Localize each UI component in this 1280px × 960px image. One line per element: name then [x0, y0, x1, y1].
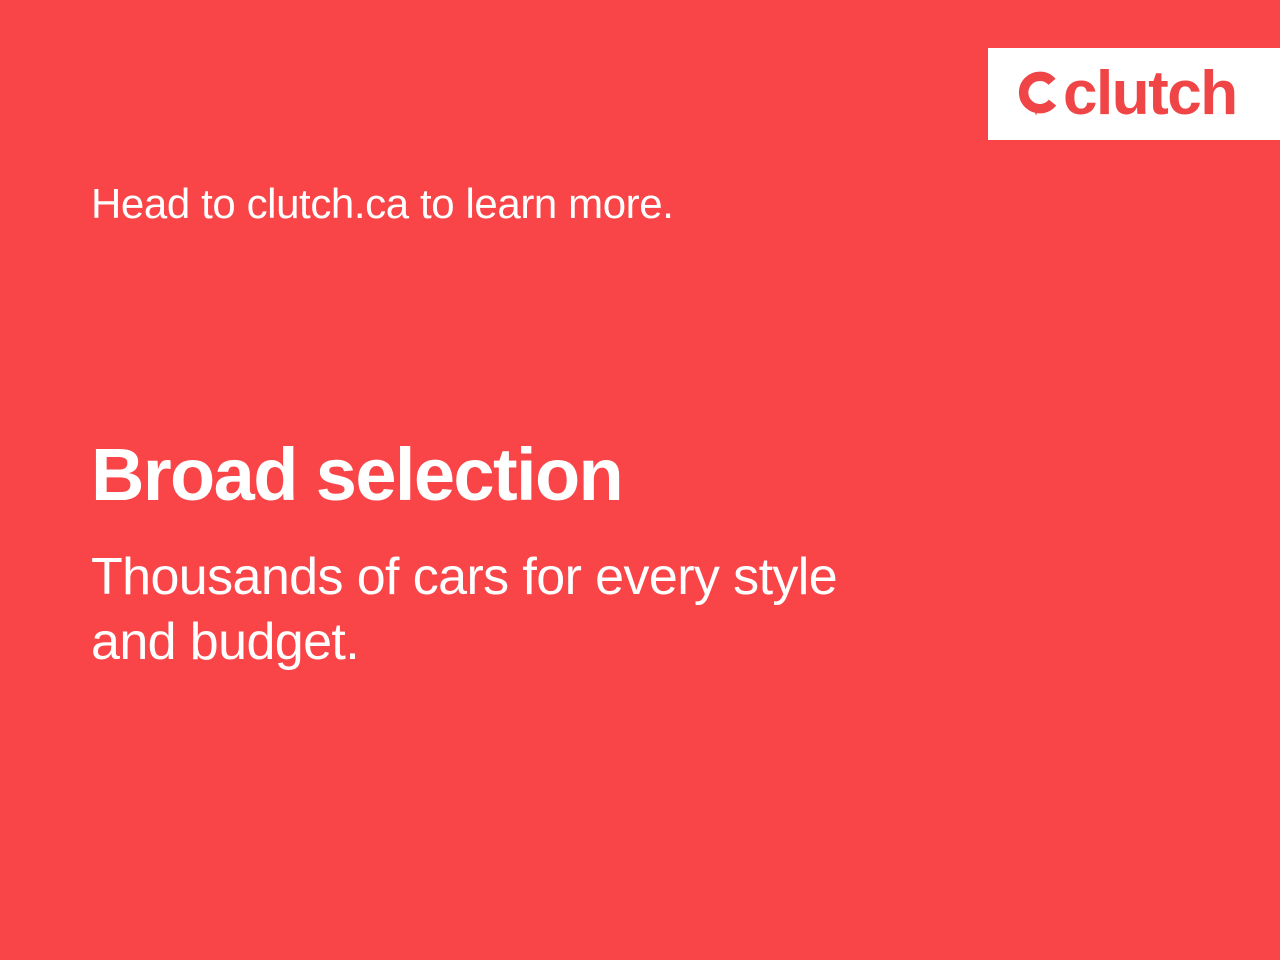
clutch-wordmark: clutch [1063, 63, 1237, 125]
clutch-c-mark-icon [1016, 68, 1062, 120]
subheading-line-2: and budget. [91, 610, 1071, 675]
eyebrow-text: Head to clutch.ca to learn more. [91, 181, 674, 227]
subheading-line-1: Thousands of cars for every style [91, 545, 1071, 610]
promo-slide: clutch Head to clutch.ca to learn more. … [0, 0, 1280, 960]
subheading: Thousands of cars for every style and bu… [91, 545, 1071, 675]
page-title: Broad selection [91, 436, 622, 514]
clutch-logo-lockup[interactable]: clutch [988, 48, 1280, 140]
